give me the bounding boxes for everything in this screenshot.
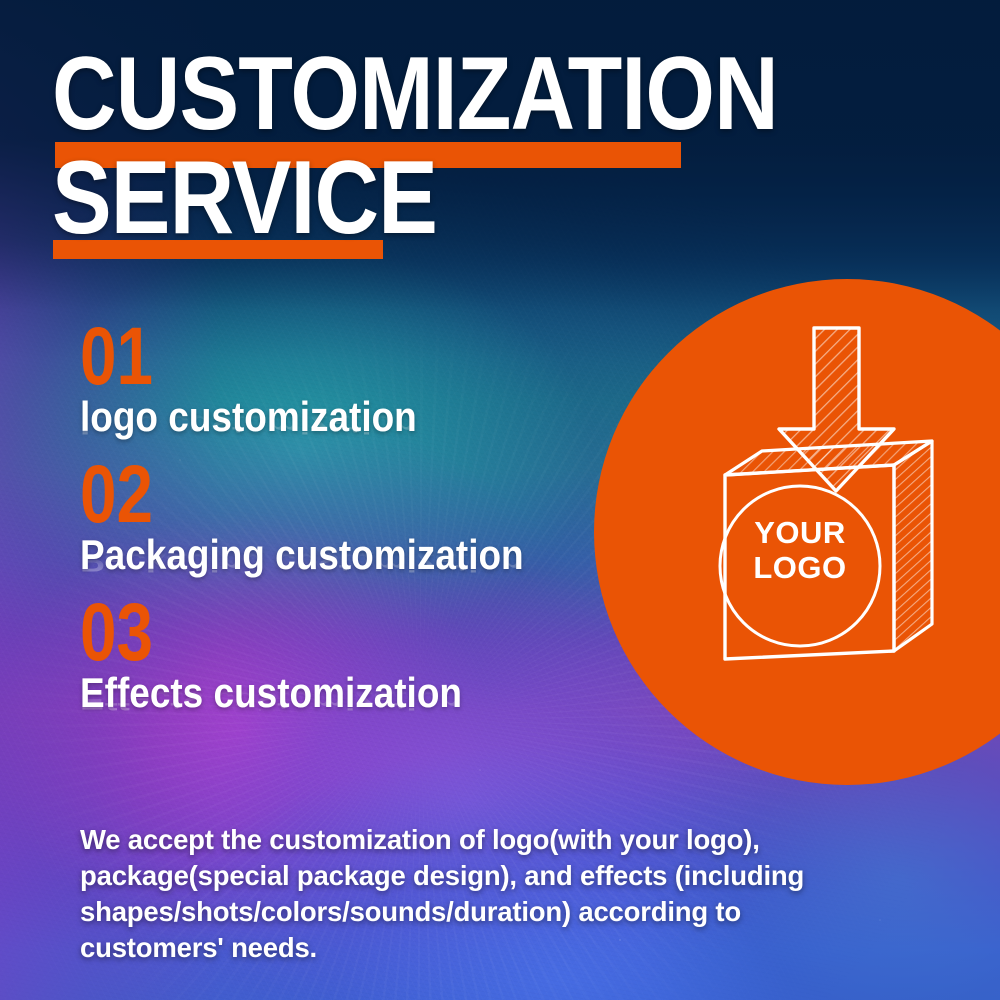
- description-paragraph: We accept the customization of logo(with…: [80, 822, 850, 966]
- item-number-02: 02: [80, 458, 528, 532]
- title-text-2: SERVICE: [52, 148, 437, 248]
- promo-banner: CUSTOMIZATION SERVICE 01 logo customizat…: [0, 0, 1000, 1000]
- item-label-02: Packaging customization: [80, 534, 524, 576]
- logo-text-line-1: YOUR: [754, 515, 846, 550]
- logo-placeholder-text: YOUR LOGO: [725, 515, 875, 585]
- title-text-1: CUSTOMIZATION: [52, 44, 778, 144]
- item-label-wrap-02: Packaging customization Packaging custom…: [80, 534, 640, 578]
- title-line-1: CUSTOMIZATION: [52, 44, 792, 140]
- item-label-03: Effects customization: [80, 672, 462, 714]
- page-title: CUSTOMIZATION SERVICE: [52, 44, 792, 248]
- item-label-wrap-03: Effects customization Effects customizat…: [80, 672, 640, 716]
- item-number-01: 01: [80, 320, 528, 394]
- item-label-wrap-01: logo customization logo customization: [80, 396, 640, 440]
- item-label-01: logo customization: [80, 396, 417, 438]
- logo-text-line-2: LOGO: [753, 550, 846, 585]
- list-item: 03 Effects customization Effects customi…: [80, 596, 640, 716]
- customization-badge: YOUR LOGO: [594, 279, 1000, 785]
- list-item: 01 logo customization logo customization: [80, 320, 640, 440]
- box-right-face: [894, 441, 932, 651]
- item-number-03: 03: [80, 596, 528, 670]
- service-list: 01 logo customization logo customization…: [80, 320, 640, 734]
- list-item: 02 Packaging customization Packaging cus…: [80, 458, 640, 578]
- title-line-2: SERVICE: [52, 148, 792, 248]
